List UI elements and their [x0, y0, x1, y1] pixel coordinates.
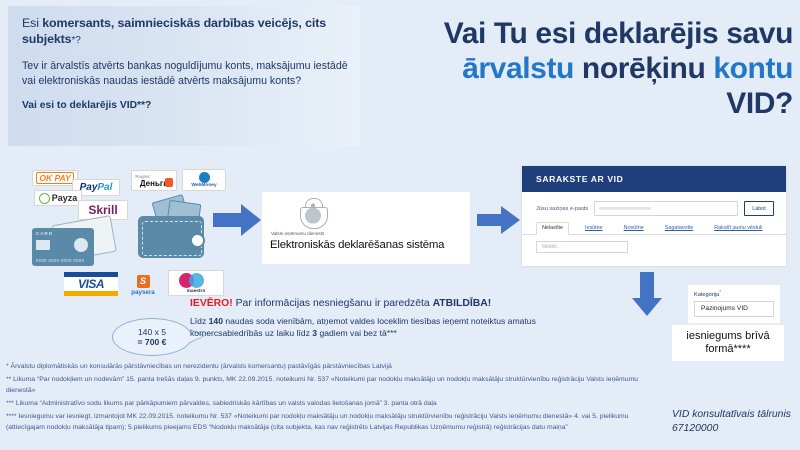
wallet-illustration: [136, 196, 208, 258]
tab-rakstit-jaunu-vestuli[interactable]: Rakstīt jaunu vēstuli: [709, 223, 767, 234]
warning-atbildiba: ATBILDĪBA!: [433, 298, 492, 309]
arrow-down-icon: [632, 272, 662, 316]
tab-sagatavotie[interactable]: Sagatavotie: [660, 223, 698, 234]
headline-accent-kontu: kontu: [713, 52, 793, 85]
tab-iesutne[interactable]: Iesūtne: [580, 223, 608, 234]
maestro-logo: maestro: [168, 270, 224, 296]
yandex-dengi-logo: Яндекс Деньги: [131, 170, 177, 191]
consult-phone: VID konsultatīvais tālrunis 67120000: [672, 408, 796, 436]
payment-methods-group: OK PAY PayPal Яндекс Деньги WebMoney Pay…: [24, 168, 206, 300]
eds-subtitle: Valsts ieņēmumu dienests: [271, 231, 324, 236]
headline-line-2: ārvalstu norēķinu kontu: [355, 51, 793, 86]
arrow-right-icon-1: [213, 204, 261, 236]
card-chip-icon: [36, 240, 50, 250]
warning-detail: Līdz 140 naudas soda vienībām, atņemot v…: [190, 316, 600, 339]
paysera-logo: Spaysera: [122, 274, 164, 296]
vid-panel-title: SARAKSTE AR VID: [522, 166, 786, 192]
coat-of-arms-icon: [296, 196, 330, 230]
warning-detail-a: Līdz: [190, 316, 209, 326]
footnote-3: *** Likuma “Administratīvo sodu likums p…: [6, 399, 666, 409]
penalty-bubble: 140 x 5 = 700 €: [112, 318, 192, 356]
info-box-question-bold: komersants, saimnieciskās darbības veicē…: [22, 16, 326, 46]
headline-accent-arvalstu: ārvalstu: [462, 52, 574, 85]
vid-search-row: Meklēt...: [522, 235, 786, 253]
warning-block: IEVĒRO! Par informācijas nesniegšanu ir …: [190, 298, 600, 339]
vid-tabs: Nelasītie Iesūtne Nosūtne Sagatavotie Ra…: [522, 216, 786, 235]
tab-nosutne[interactable]: Nosūtne: [619, 223, 649, 234]
info-box-body: Tev ir ārvalstīs atvērts bankas noguldīj…: [22, 59, 348, 89]
footnote-2: ** Likuma “Par nodokļiem un nodevām” 15.…: [6, 375, 666, 396]
required-mark: *: [719, 289, 721, 294]
tab-nelasitie[interactable]: Nelasītie: [536, 222, 569, 235]
vid-email-row: Jūsu saziņas e-pasts Labot: [522, 192, 786, 216]
eds-logo-box: Valsts ieņēmumu dienests Elektroniskās d…: [262, 192, 470, 264]
warning-detail-e: gadiem vai bez tā***: [317, 328, 397, 338]
eds-title: Elektroniskās deklarēšanas sistēma: [270, 239, 444, 251]
warning-detail-140: 140: [209, 316, 223, 326]
info-box: Esi komersants, saimnieciskās darbības v…: [8, 6, 360, 146]
payza-mark-icon: [39, 193, 50, 204]
free-form-box: iesniegums brīvā formā****: [672, 325, 784, 361]
arrow-right-icon-2: [477, 206, 521, 234]
vid-correspondence-panel: SARAKSTE AR VID Jūsu saziņas e-pasts Lab…: [522, 166, 786, 266]
vid-email-input[interactable]: [594, 201, 738, 216]
footnotes: * Ārvalstu diplomātiskās un konsulārās p…: [6, 362, 666, 436]
payza-logo: Payza: [34, 190, 82, 206]
headline-line-1: Vai Tu esi deklarējis savu: [355, 16, 793, 51]
card-globe-icon: [74, 238, 88, 252]
penalty-bubble-line-2: = 700 €: [138, 337, 167, 347]
webmoney-logo: WebMoney: [182, 169, 226, 191]
footnote-1: * Ārvalstu diplomātiskās un konsulārās p…: [6, 362, 666, 372]
info-box-question-lead: Esi: [22, 16, 42, 30]
info-box-question: Esi komersants, saimnieciskās darbības v…: [22, 16, 348, 48]
search-input[interactable]: Meklēt...: [536, 241, 628, 253]
footnote-4: **** Iesniegumu var iesniegt, izmantojot…: [6, 412, 666, 433]
category-label: Kategorija*: [694, 289, 774, 298]
page-title: Vai Tu esi deklarējis savu ārvalstu norē…: [355, 16, 793, 121]
bank-cards-illustration: CARD 0000 0000 0000 0000: [30, 220, 116, 270]
warning-text: Par informācijas nesniegšanu ir paredzēt…: [233, 298, 433, 309]
vid-edit-button[interactable]: Labot: [744, 201, 774, 216]
warning-ievero: IEVĒRO!: [190, 298, 233, 309]
headline-line-3: VID?: [355, 86, 793, 121]
yandex-badge-icon: [165, 178, 173, 187]
category-field-box: Kategorija* Paziņojums VID: [688, 285, 780, 323]
info-box-question-2: Vai esi to deklarējis VID**?: [22, 100, 348, 111]
headline-norekinu: norēķinu: [574, 52, 713, 85]
vid-email-label: Jūsu saziņas e-pasts: [536, 206, 588, 212]
warning-headline: IEVĒRO! Par informācijas nesniegšanu ir …: [190, 298, 600, 309]
penalty-bubble-line-1: 140 x 5: [138, 327, 166, 337]
slide-canvas: Esi komersants, saimnieciskās darbības v…: [0, 0, 800, 450]
category-select[interactable]: Paziņojums VID: [694, 301, 774, 317]
visa-logo: VISA: [64, 272, 118, 296]
globe-icon: [199, 172, 210, 183]
info-box-question-star: *?: [71, 35, 80, 46]
